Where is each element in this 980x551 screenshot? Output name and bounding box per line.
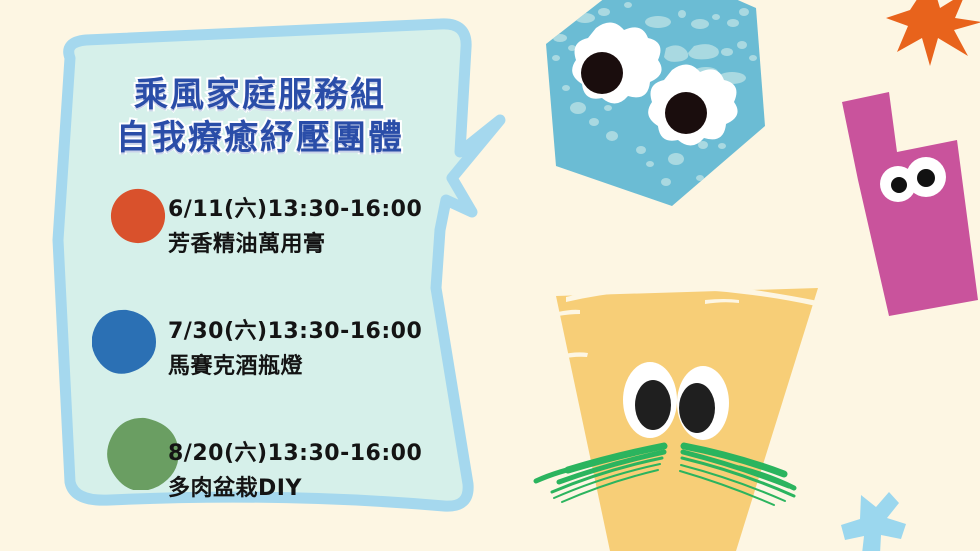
pink-block-character (842, 92, 978, 316)
orange-starburst-icon (886, 0, 980, 66)
blue-hexagon-character (546, 0, 765, 206)
decoration-layer (0, 0, 980, 551)
blue-asterisk-icon (841, 492, 906, 551)
speech-bubble (58, 24, 500, 506)
poster-canvas: 乘風家庭服務組 自我療癒紓壓團體 6/11(六)13:30-16:00 芳香精油… (0, 0, 980, 551)
yellow-triangle-character (536, 278, 818, 551)
